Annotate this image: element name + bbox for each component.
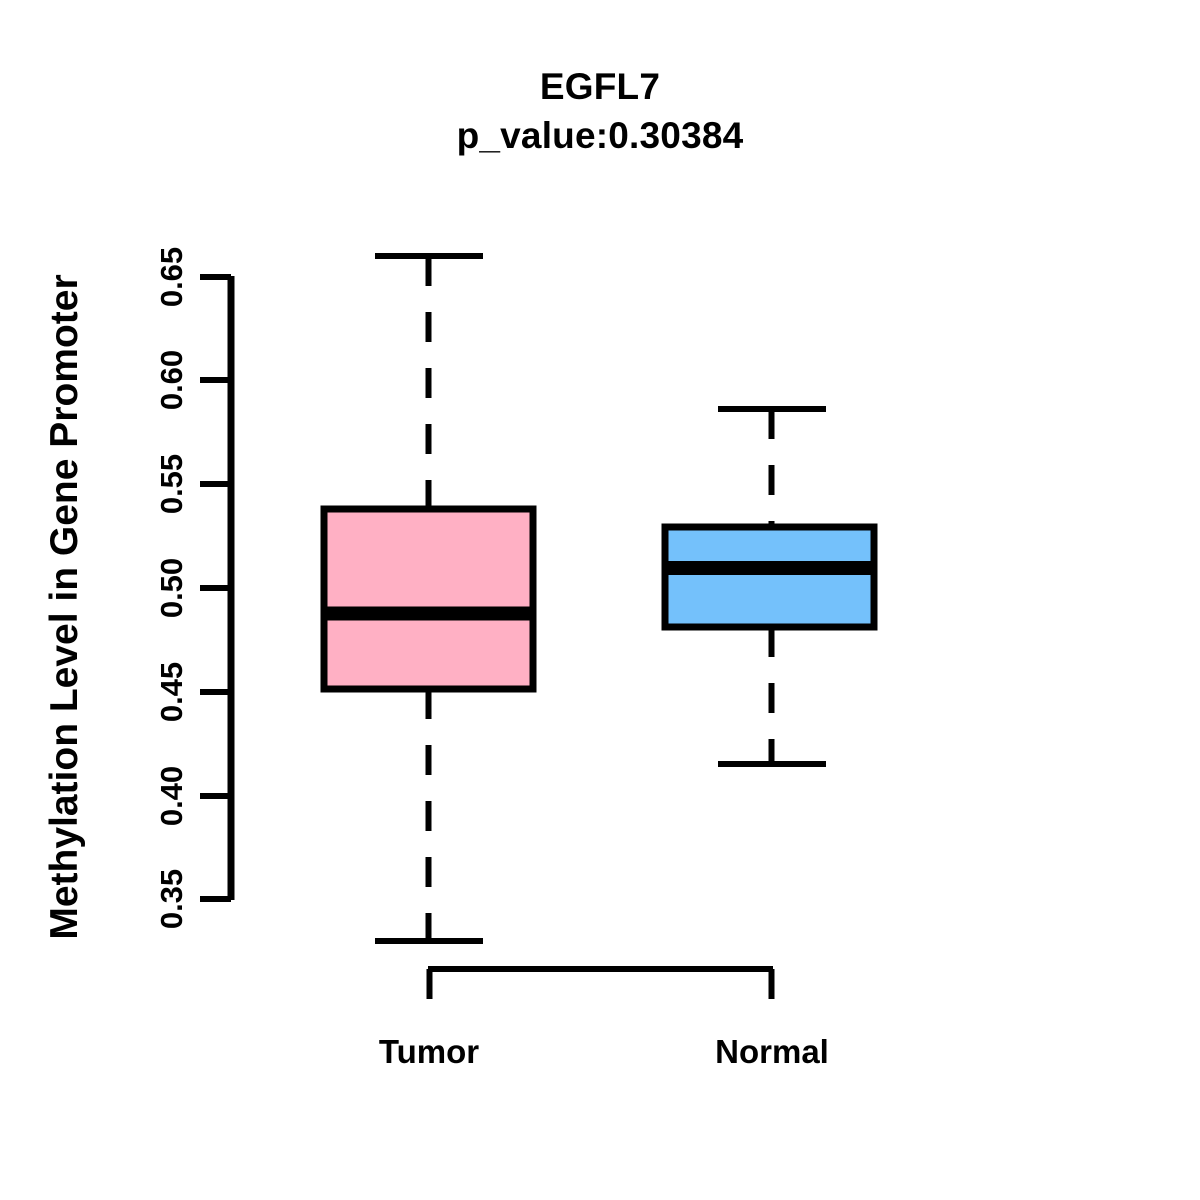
y-tick-label-0.45: 0.45 [154, 632, 190, 752]
box-body-normal [665, 527, 874, 627]
boxplot-figure: EGFL7 p_value:0.30384 Methylation Level … [0, 0, 1200, 1200]
y-axis [200, 276, 231, 900]
x-tick-label-tumor: Tumor [279, 1033, 579, 1071]
y-tick-label-0.55: 0.55 [154, 424, 190, 544]
box-normal [663, 409, 876, 764]
box-tumor [322, 256, 535, 941]
box-body-tumor [324, 509, 533, 689]
x-axis [428, 969, 773, 999]
y-tick-label-0.35: 0.35 [154, 839, 190, 959]
y-tick-label-0.50: 0.50 [154, 528, 190, 648]
y-tick-label-0.60: 0.60 [154, 320, 190, 440]
x-tick-label-normal: Normal [622, 1033, 922, 1071]
y-tick-label-0.40: 0.40 [154, 736, 190, 856]
y-tick-label-0.65: 0.65 [154, 217, 190, 337]
